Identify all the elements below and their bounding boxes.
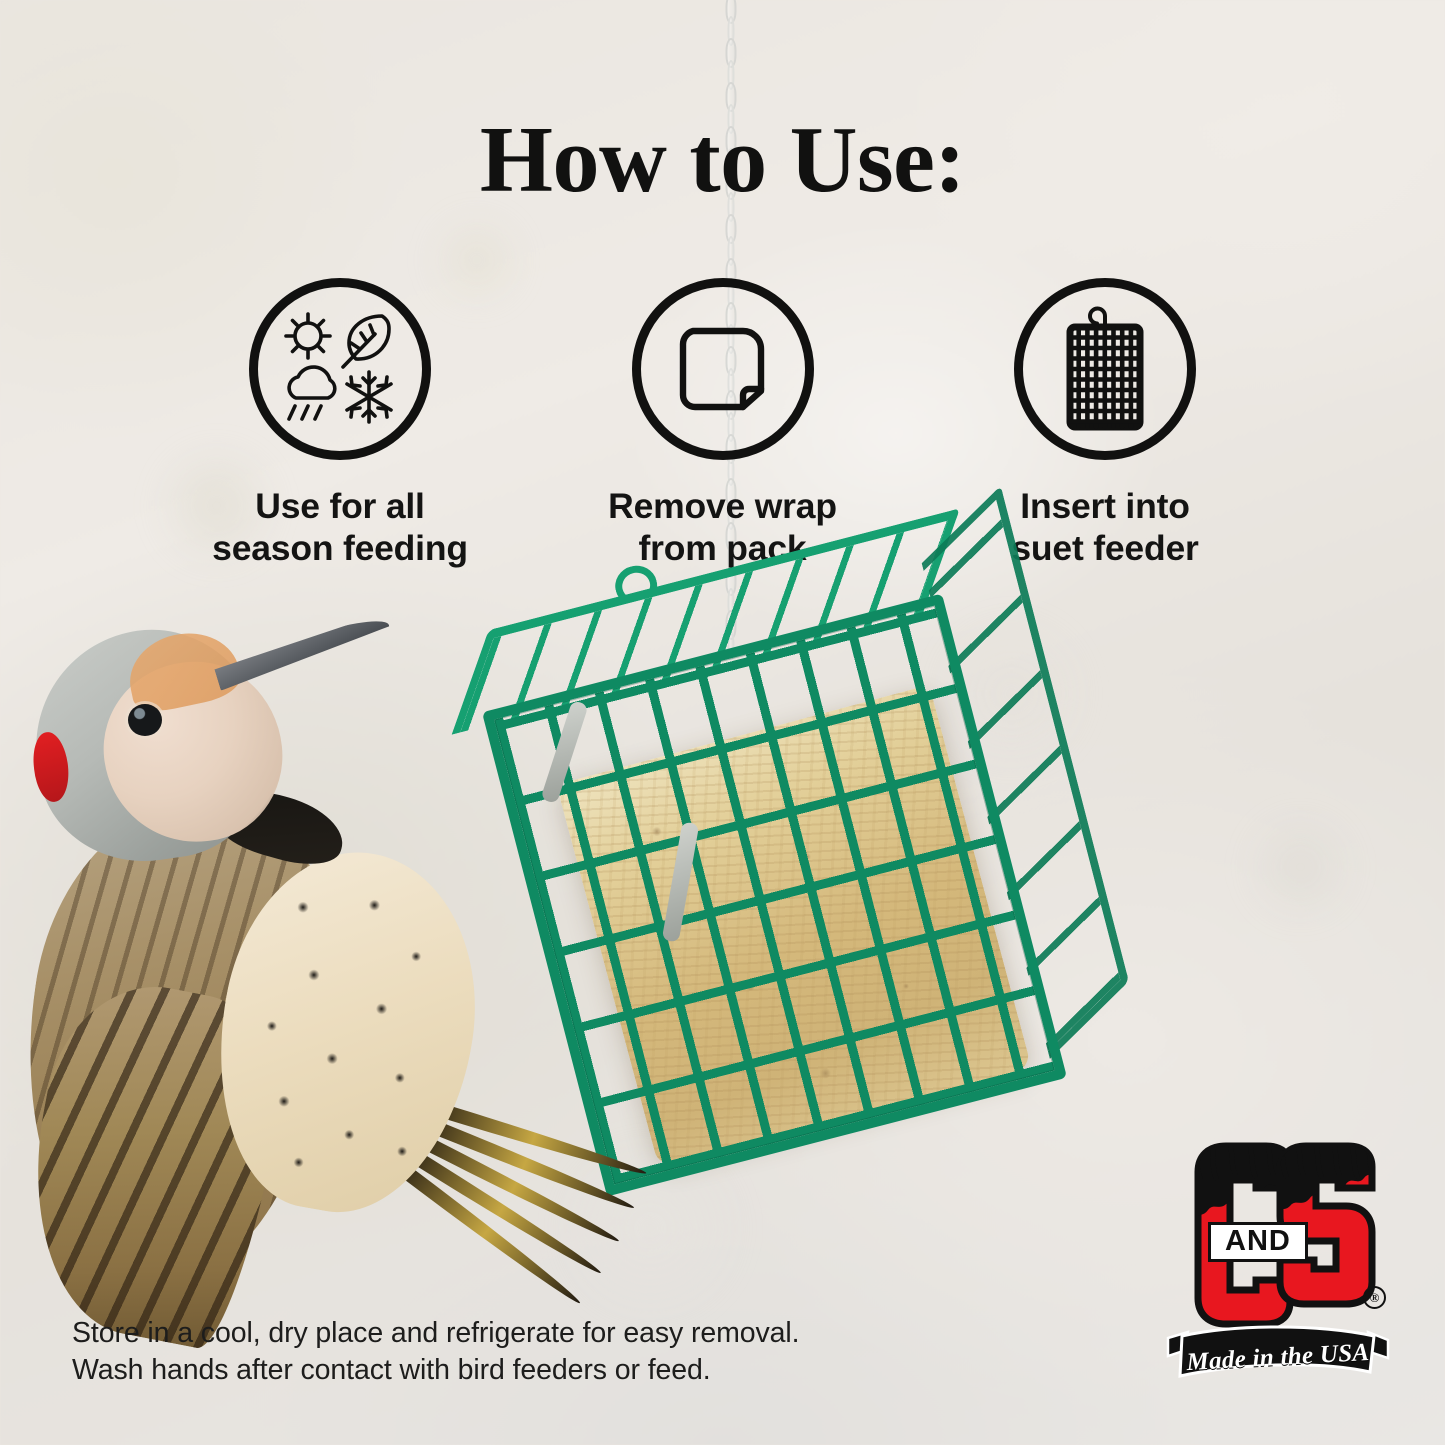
logo-and-label: AND bbox=[1208, 1222, 1308, 1262]
product-photo bbox=[0, 600, 1050, 1340]
logo-letter-s bbox=[1272, 1138, 1384, 1304]
step-caption-line2: season feeding bbox=[212, 528, 468, 570]
step-remove-wrap: Remove wrap from pack bbox=[573, 278, 873, 569]
northern-flicker-bird bbox=[0, 600, 720, 1340]
suet-feeder-cage-icon bbox=[1014, 278, 1196, 460]
registered-trademark-icon: ® bbox=[1363, 1286, 1386, 1309]
bird-beak bbox=[213, 612, 393, 690]
step-caption-line1: Use for all bbox=[212, 486, 468, 528]
step-all-season: Use for all season feeding bbox=[190, 278, 490, 569]
step-caption-line1: Remove wrap bbox=[608, 486, 837, 528]
how-to-use-steps: Use for all season feeding Remove wrap f… bbox=[190, 278, 1255, 569]
made-in-usa-ribbon: Made in the USA bbox=[1166, 1324, 1390, 1392]
step-caption-all-season: Use for all season feeding bbox=[212, 486, 468, 569]
bird-foot-lower bbox=[662, 821, 700, 942]
step-caption-line1: Insert into bbox=[1011, 486, 1198, 528]
step-caption-insert-feeder: Insert into suet feeder bbox=[1011, 486, 1198, 569]
step-caption-line2: suet feeder bbox=[1011, 528, 1198, 570]
remove-wrap-icon bbox=[632, 278, 814, 460]
page-title: How to Use: bbox=[0, 113, 1445, 207]
all-season-weather-icon bbox=[249, 278, 431, 460]
bird-foot-upper bbox=[540, 700, 588, 804]
storage-note: Store in a cool, dry place and refrigera… bbox=[72, 1315, 799, 1389]
brand-logo: AND ® Made in the USA bbox=[1172, 1138, 1384, 1386]
storage-note-line2: Wash hands after contact with bird feede… bbox=[72, 1352, 799, 1389]
bird-eye bbox=[128, 704, 162, 736]
storage-note-line1: Store in a cool, dry place and refrigera… bbox=[72, 1315, 799, 1352]
